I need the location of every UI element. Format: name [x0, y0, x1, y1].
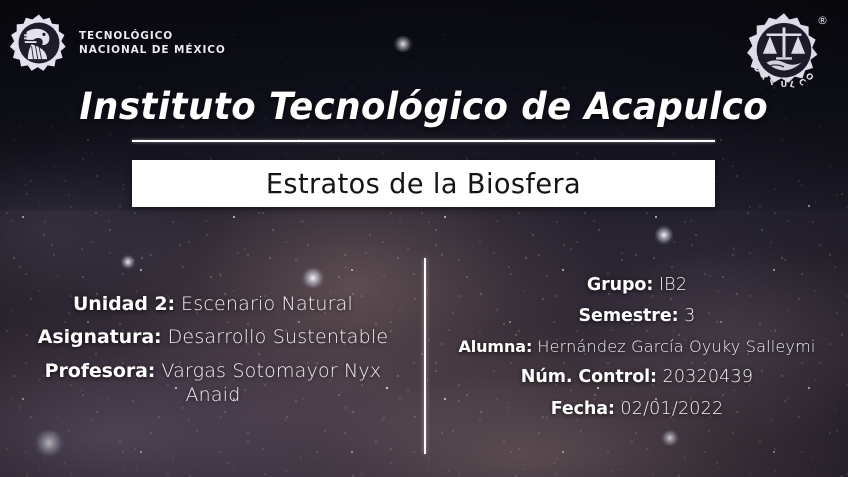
- subtitle-text: Estratos de la Biosfera: [266, 167, 581, 200]
- info-label: Fecha:: [551, 399, 615, 419]
- info-row: Profesora: Vargas Sotomayor Nyx Anaid: [18, 359, 408, 408]
- info-row: Asignatura: Desarrollo Sustentable: [18, 325, 408, 349]
- info-value: Vargas Sotomayor Nyx Anaid: [161, 360, 381, 406]
- page-title: Instituto Tecnológico de Acapulco: [0, 88, 848, 127]
- column-divider: [424, 258, 426, 454]
- info-label: Semestre:: [579, 306, 679, 326]
- info-row: Unidad 2: Escenario Natural: [18, 292, 408, 316]
- tecnm-logo: TECNOLÓGICO NACIONAL DE MÉXICO: [8, 12, 226, 74]
- info-row: Alumna: Hernández García Oyuky Salleymi: [440, 337, 834, 357]
- page-title-text: Instituto Tecnológico de Acapulco: [80, 88, 769, 127]
- info-value: 20320439: [663, 367, 754, 387]
- info-row: Núm. Control: 20320439: [440, 366, 834, 388]
- info-value: IB2: [659, 275, 687, 295]
- tecnm-wordmark: TECNOLÓGICO NACIONAL DE MÉXICO: [79, 29, 226, 57]
- info-label: Alumna:: [458, 337, 532, 356]
- info-value: Desarrollo Sustentable: [168, 326, 389, 348]
- info-value: Escenario Natural: [181, 293, 353, 315]
- subtitle-banner: Estratos de la Biosfera: [132, 160, 715, 207]
- registered-trademark-icon: ®: [817, 14, 828, 27]
- title-underline-rule: [132, 140, 715, 142]
- info-label: Unidad 2:: [73, 293, 175, 315]
- tecnm-wordmark-line1: TECNOLÓGICO: [79, 29, 226, 43]
- right-info-column: Grupo: IB2 Semestre: 3 Alumna: Hernández…: [440, 274, 834, 429]
- title-slide: TECNOLÓGICO NACIONAL DE MÉXICO ® A C: [0, 0, 848, 477]
- acapulco-gear-scales-icon: A C A P U L C O: [740, 8, 828, 96]
- info-row: Grupo: IB2: [440, 274, 834, 296]
- info-value: Hernández García Oyuky Salleymi: [537, 337, 815, 356]
- tecnm-wordmark-line2: NACIONAL DE MÉXICO: [79, 43, 226, 57]
- tecnm-gear-eagle-icon: [8, 12, 70, 74]
- info-label: Núm. Control:: [521, 367, 657, 387]
- info-value: 02/01/2022: [620, 399, 723, 419]
- info-label: Asignatura:: [38, 326, 162, 348]
- info-value: 3: [684, 306, 695, 326]
- info-label: Grupo:: [587, 275, 653, 295]
- info-row: Fecha: 02/01/2022: [440, 398, 834, 420]
- left-info-column: Unidad 2: Escenario Natural Asignatura: …: [18, 292, 408, 416]
- info-label: Profesora:: [45, 360, 156, 382]
- info-row: Semestre: 3: [440, 305, 834, 327]
